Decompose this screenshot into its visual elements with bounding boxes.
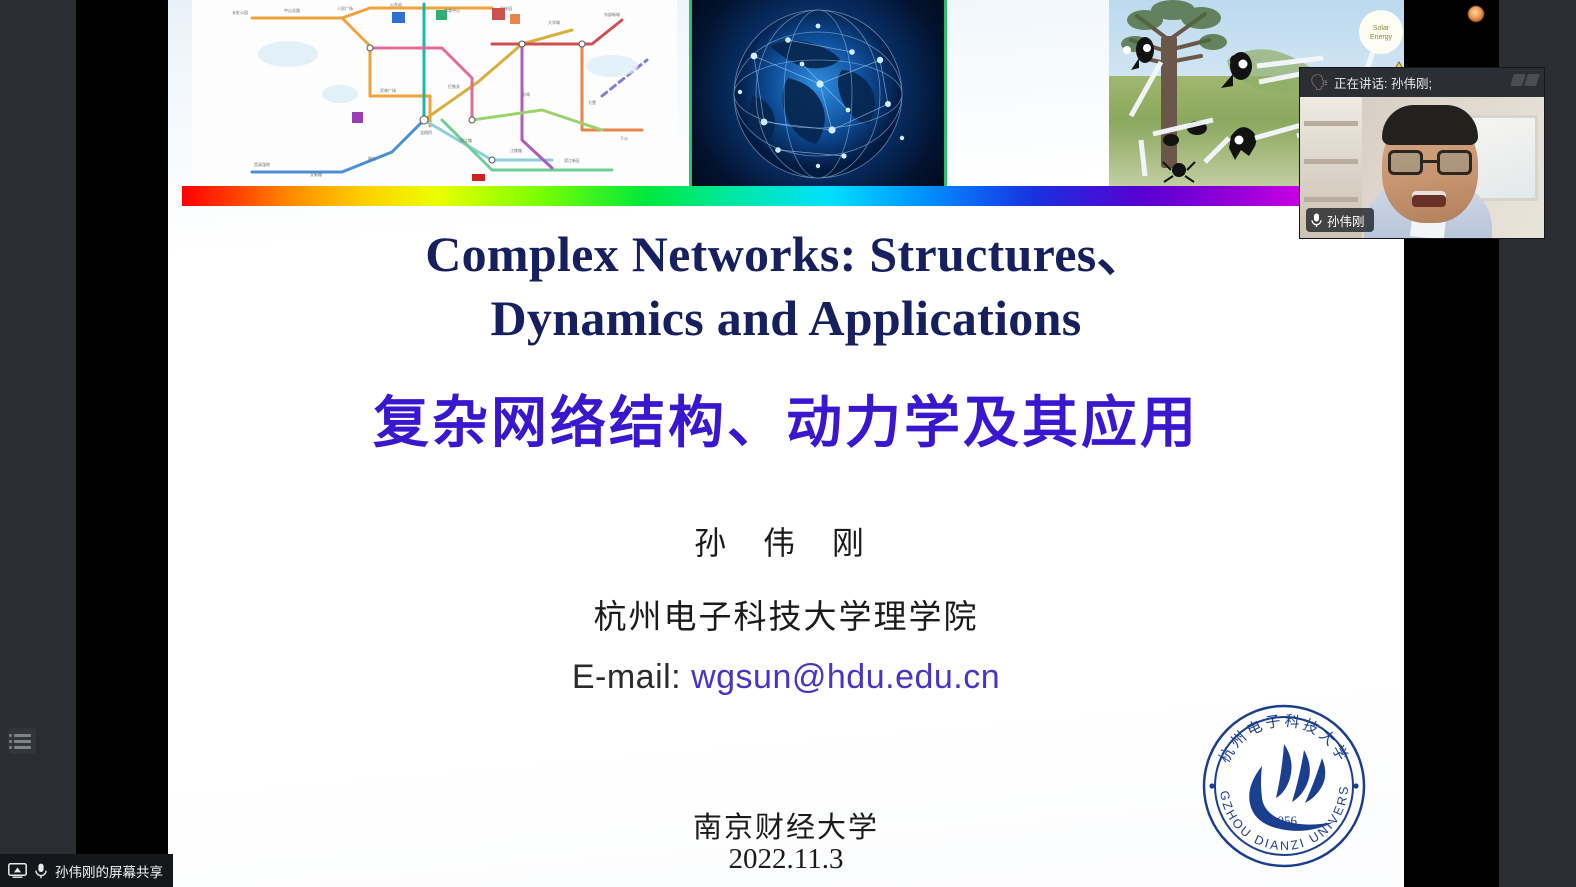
screen-share-icon bbox=[8, 863, 27, 878]
svg-text:城站: 城站 bbox=[368, 155, 376, 161]
email-address[interactable]: wgsun@hdu.edu.cn bbox=[691, 658, 1000, 696]
svg-text:东部新城: 东部新城 bbox=[604, 11, 620, 17]
participants-list-icon[interactable] bbox=[8, 728, 36, 754]
svg-text:人民广场: 人民广场 bbox=[337, 5, 353, 11]
global-network-globe-image bbox=[689, 0, 947, 188]
microphone-icon bbox=[35, 863, 47, 879]
svg-text:钱江路: 钱江路 bbox=[460, 137, 472, 143]
screen-share-status-label: 孙伟刚的屏幕共享 bbox=[55, 861, 163, 881]
active-speaker-thumbnail[interactable]: 🗣 正在讲话: 孙伟刚; bbox=[1300, 68, 1544, 238]
svg-text:Solar: Solar bbox=[1373, 25, 1390, 32]
speaking-icon: 🗣 bbox=[1306, 74, 1326, 92]
svg-text:武林广场: 武林广场 bbox=[380, 87, 396, 93]
svg-text:江陵路: 江陵路 bbox=[510, 147, 522, 153]
rainbow-divider-bar bbox=[182, 186, 1402, 206]
svg-text:龙翔桥: 龙翔桥 bbox=[420, 129, 432, 135]
hangzhou-dianzi-university-logo: 杭州电子科技大学 HANGZHOU DIANZI UNIVERSITY 1956 bbox=[1198, 700, 1370, 872]
participant-name-badge: 孙伟刚 bbox=[1306, 208, 1374, 232]
email-label: E-mail: bbox=[572, 658, 681, 696]
svg-text:彭埠: 彭埠 bbox=[522, 91, 530, 97]
zoom-meeting-window: 长虹公园中山北路 人民广场火车站 体育中心科技园 大学城东部新城 西溪湿地文新路… bbox=[0, 0, 1576, 887]
svg-text:火车站: 火车站 bbox=[390, 1, 402, 7]
svg-text:大学城: 大学城 bbox=[548, 19, 560, 25]
svg-text:文新路: 文新路 bbox=[310, 171, 322, 177]
microphone-icon bbox=[1311, 213, 1322, 228]
svg-text:滨江新区: 滨江新区 bbox=[564, 157, 580, 163]
svg-text:西溪湿地: 西溪湿地 bbox=[254, 161, 270, 167]
slide-title-chinese: 复杂网络结构、动力学及其应用 bbox=[168, 388, 1404, 460]
slide-title-english: Complex Networks: Structures、 Dynamics a… bbox=[168, 222, 1404, 350]
slide-author: 孙 伟 刚 bbox=[168, 518, 1404, 564]
svg-text:长虹公园: 长虹公园 bbox=[232, 9, 248, 15]
speaker-banner: 🗣 正在讲话: 孙伟刚; bbox=[1300, 68, 1544, 97]
svg-text:1956: 1956 bbox=[1271, 813, 1298, 828]
slide-email-line: E-mail: wgsun@hdu.edu.cn bbox=[168, 658, 1404, 697]
speaker-banner-label: 正在讲话: 孙伟刚; bbox=[1334, 73, 1432, 92]
slide-title-line-1: Complex Networks: Structures、 bbox=[168, 222, 1404, 286]
slide-affiliation: 杭州电子科技大学理学院 bbox=[168, 590, 1404, 638]
recording-indicator bbox=[1468, 6, 1484, 22]
svg-text:中山北路: 中山北路 bbox=[284, 7, 300, 13]
participant-name-label: 孙伟刚 bbox=[1327, 211, 1365, 230]
svg-text:七堡: 七堡 bbox=[588, 99, 596, 105]
speaker-video-feed[interactable]: 孙伟刚 bbox=[1300, 97, 1544, 238]
screen-share-status-bar: 孙伟刚的屏幕共享 bbox=[0, 854, 173, 887]
svg-text:下沙: 下沙 bbox=[620, 136, 628, 141]
slide-banner-images: 长虹公园中山北路 人民广场火车站 体育中心科技园 大学城东部新城 西溪湿地文新路… bbox=[192, 0, 1404, 188]
svg-text:Energy: Energy bbox=[1370, 34, 1393, 41]
slide-title-line-2: Dynamics and Applications bbox=[168, 286, 1404, 350]
metro-map-image: 长虹公园中山北路 人民广场火车站 体育中心科技园 大学城东部新城 西溪湿地文新路… bbox=[192, 0, 677, 188]
left-toolbar-rail bbox=[0, 0, 76, 887]
shared-slide: 长虹公园中山北路 人民广场火车站 体育中心科技园 大学城东部新城 西溪湿地文新路… bbox=[168, 0, 1404, 887]
svg-text:打铁关: 打铁关 bbox=[448, 83, 460, 89]
chevron-collapse-icon[interactable] bbox=[1512, 74, 1538, 86]
